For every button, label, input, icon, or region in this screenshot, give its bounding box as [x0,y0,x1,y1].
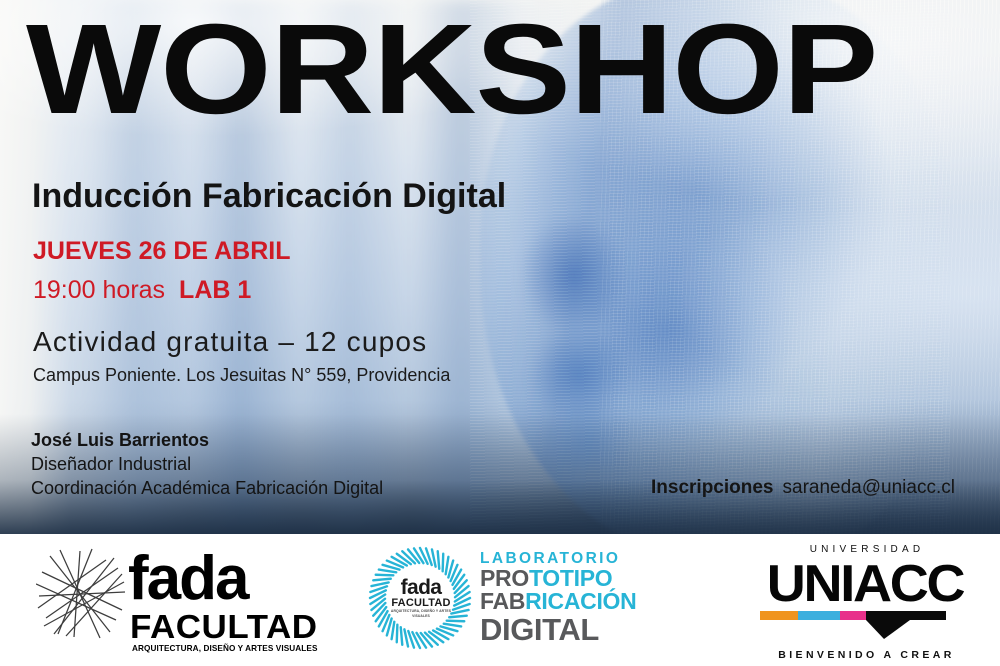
registration-email[interactable]: saraneda@uniacc.cl [774,477,955,498]
lab-prototipo-logo: fada FACULTAD ARQUITECTURA, DISEÑO Y ART… [368,546,618,654]
lab-line-digital: DIGITAL [480,613,636,646]
lab-line-prototipo: PROTOTIPO [480,567,636,590]
uniacc-wordmark: UNIACC [756,558,974,610]
lab-seal-tagline: ARQUITECTURA, DISEÑO Y ARTES VISUALES [386,609,456,619]
poster-canvas: WORKSHOP Inducción Fabricación Digital J… [0,0,1000,666]
presenter-role: Diseñador Industrial [31,452,383,476]
registration-label: Inscripciones [651,477,774,498]
event-date: JUEVES 26 DE ABRIL [33,236,290,266]
poster-content: WORKSHOP Inducción Fabricación Digital J… [0,0,1000,534]
uniacc-logo: UNIVERSIDAD UNIACC BIENVENIDO A CREAR [760,544,970,658]
uniacc-slogan: BIENVENIDO A CREAR [760,649,970,662]
poster-title: WORKSHOP [26,6,877,134]
lab-fab: FAB [480,588,525,614]
event-room: LAB 1 [165,276,251,304]
event-time-and-room: 19:00 horasLAB 1 [33,275,251,305]
presenter-department: Coordinación Académica Fabricación Digit… [31,476,383,500]
event-time: 19:00 horas [33,276,165,304]
lab-line-fabricacion: FABRICACIÓN [480,590,636,613]
lab-seal-fada: fada [386,578,456,598]
registration-block: Inscripcionessaraneda@uniacc.cl [651,476,955,500]
poster-subtitle: Inducción Fabricación Digital [32,176,506,216]
fada-wordmark: fada [128,548,247,610]
footer-logo-bar: fada FACULTAD ARQUITECTURA, DISEÑO Y ART… [0,534,1000,666]
presenter-block: José Luis Barrientos Diseñador Industria… [31,428,383,500]
lab-ricacion: RICACIÓN [525,588,636,614]
event-address: Campus Poniente. Los Jesuitas N° 559, Pr… [33,363,450,387]
lab-seal-faculty: FACULTAD [386,598,456,609]
uniacc-color-bar-icon [760,611,946,639]
fada-faculty-label: FACULTAD [130,610,318,643]
lab-wordmark: LABORATORIO PROTOTIPO FABRICACIÓN DIGITA… [480,550,636,646]
scribble-lines-icon [36,548,128,640]
lab-seal-center: fada FACULTAD ARQUITECTURA, DISEÑO Y ART… [386,578,456,619]
fada-tagline: ARQUITECTURA, DISEÑO Y ARTES VISUALES [132,644,318,654]
fada-faculty-logo: fada FACULTAD ARQUITECTURA, DISEÑO Y ART… [36,544,286,656]
event-availability: Actividad gratuita – 12 cupos [33,325,427,359]
presenter-name: José Luis Barrientos [31,428,383,452]
